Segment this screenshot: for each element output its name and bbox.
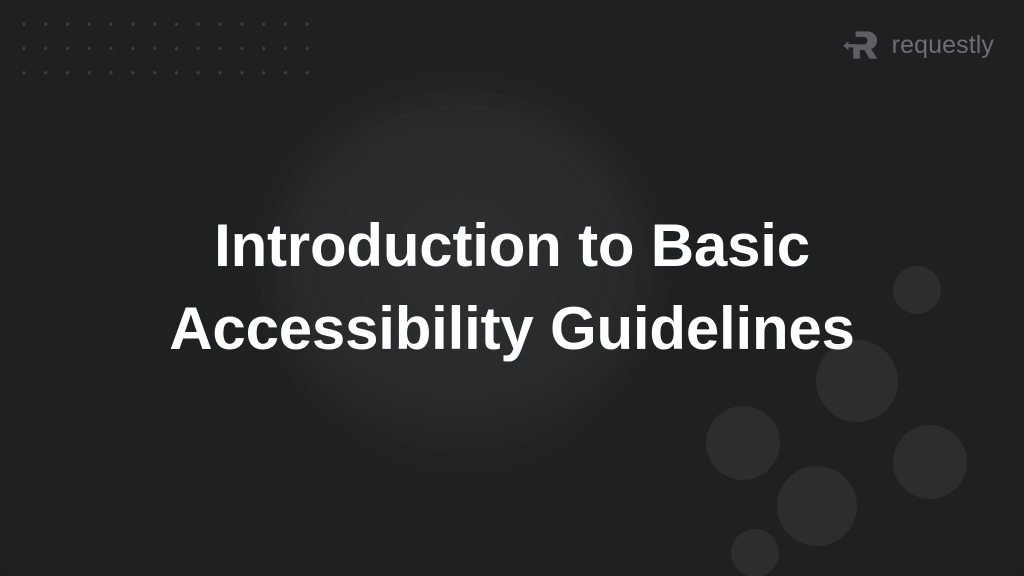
brand-logo: requestly bbox=[843, 26, 994, 64]
dot-grid-pattern bbox=[13, 12, 322, 89]
decorative-circle bbox=[777, 466, 857, 546]
decorative-circle bbox=[893, 425, 967, 499]
requestly-r-arrow-icon bbox=[843, 26, 881, 64]
brand-name-text: requestly bbox=[892, 33, 994, 58]
presentation-slide: requestly Introduction to Basic Accessib… bbox=[0, 0, 1024, 576]
decorative-circle bbox=[706, 406, 780, 480]
decorative-circle bbox=[731, 529, 779, 576]
slide-title-container: Introduction to Basic Accessibility Guid… bbox=[0, 205, 1024, 371]
page-title: Introduction to Basic Accessibility Guid… bbox=[152, 205, 872, 371]
